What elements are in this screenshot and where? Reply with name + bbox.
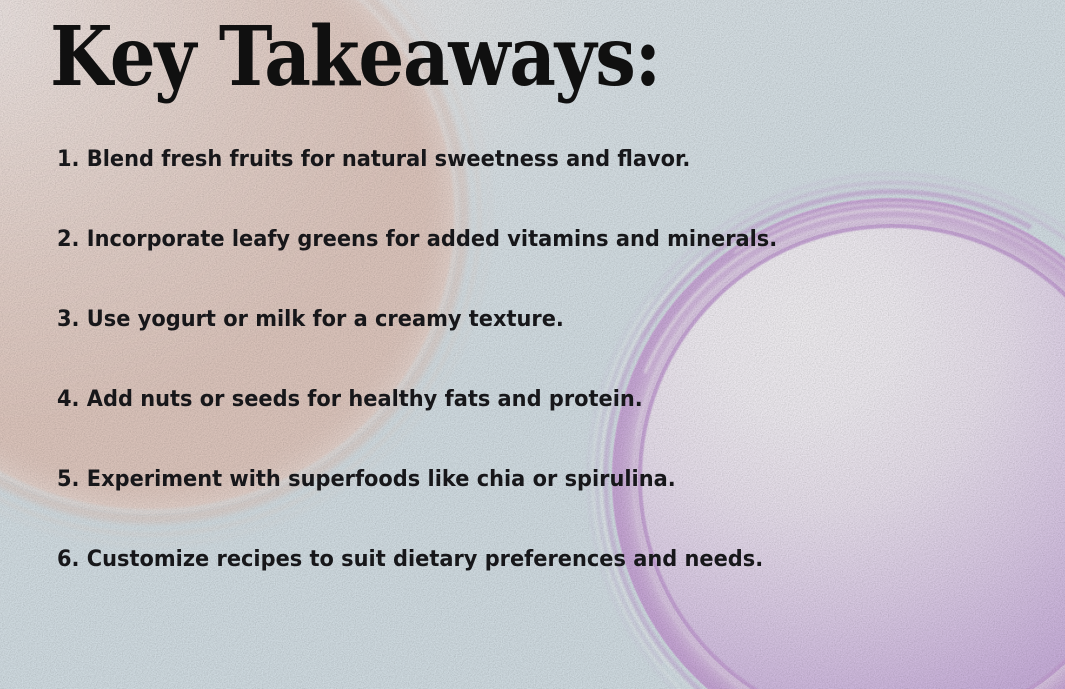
- list-item: 1. Blend fresh fruits for natural sweetn…: [57, 148, 792, 228]
- takeaways-list: 1. Blend fresh fruits for natural sweetn…: [57, 148, 847, 628]
- list-item: 2. Incorporate leafy greens for added vi…: [57, 228, 792, 308]
- list-item: 4. Add nuts or seeds for healthy fats an…: [57, 388, 792, 468]
- page-title: Key Takeaways:: [50, 16, 660, 98]
- slide-content: Key Takeaways: 1. Blend fresh fruits for…: [0, 0, 1065, 689]
- list-item: 6. Customize recipes to suit dietary pre…: [57, 548, 792, 628]
- list-item: 5. Experiment with superfoods like chia …: [57, 468, 792, 548]
- slide-canvas: Key Takeaways: 1. Blend fresh fruits for…: [0, 0, 1065, 689]
- list-item: 3. Use yogurt or milk for a creamy textu…: [57, 308, 792, 388]
